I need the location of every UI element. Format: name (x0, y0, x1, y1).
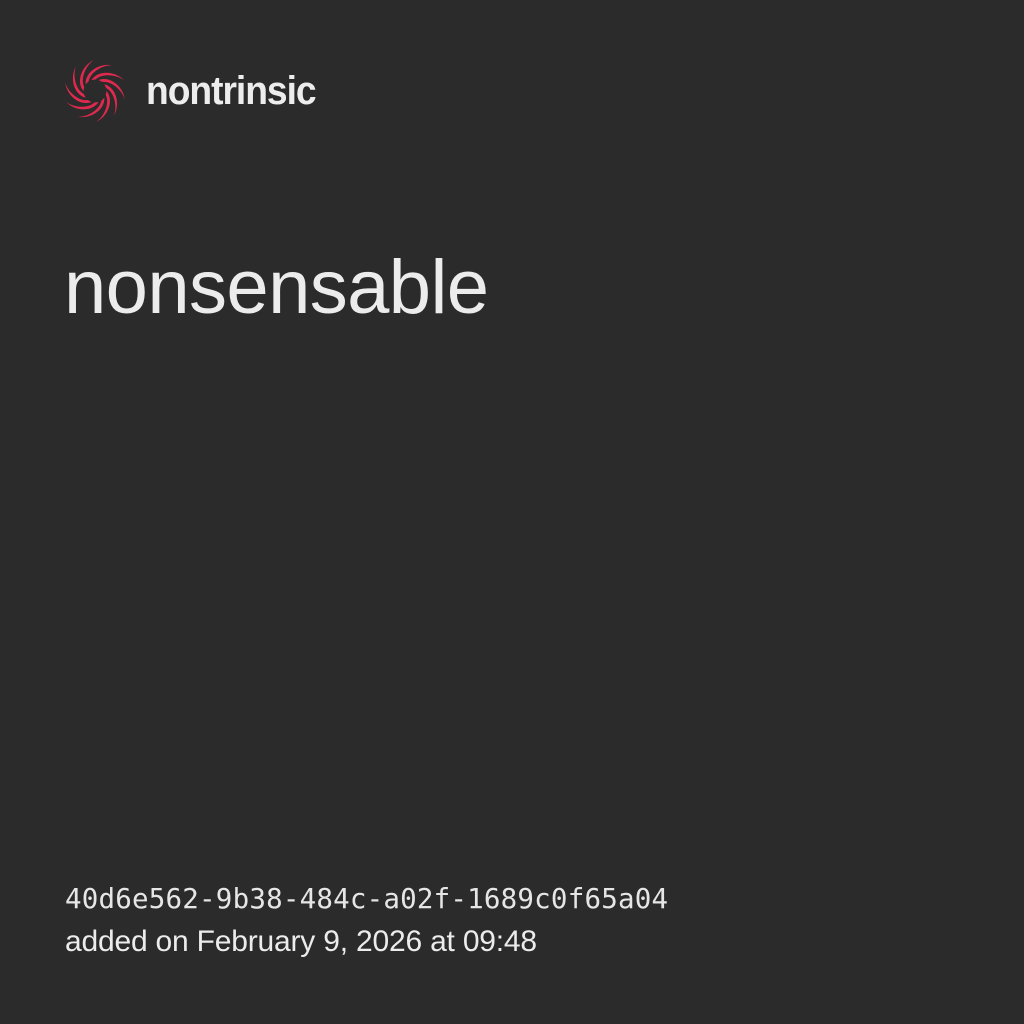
logo-blade (66, 102, 99, 110)
logo-hub (85, 81, 105, 101)
entry-card: nontrinsic nonsensable 40d6e562-9b38-484… (0, 0, 1024, 1024)
entry-uuid: 40d6e562-9b38-484c-a02f-1689c0f65a04 (65, 880, 668, 919)
entry-metadata: 40d6e562-9b38-484c-a02f-1689c0f65a04 add… (65, 880, 668, 964)
brand-lockup[interactable]: nontrinsic (62, 58, 328, 124)
brand-wordmark: nontrinsic (146, 71, 316, 111)
page-title: nonsensable (64, 247, 488, 329)
spiral-aperture-icon (62, 58, 128, 124)
entry-added-timestamp: added on February 9, 2026 at 09:48 (65, 921, 668, 964)
logo-blade (91, 73, 124, 81)
